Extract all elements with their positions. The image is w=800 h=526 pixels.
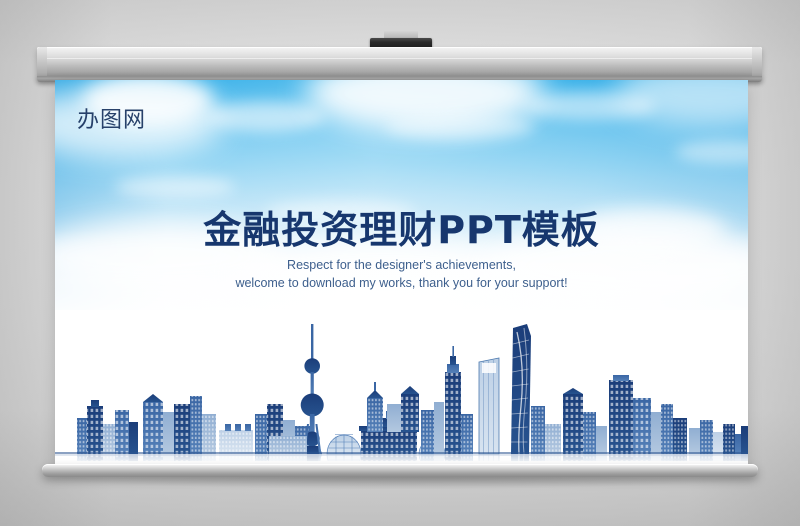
city-skyline-illustration (55, 306, 748, 466)
projector-screen-housing[interactable] (37, 47, 762, 79)
subtitle-line-2: welcome to download my works, thank you … (55, 274, 748, 292)
cloud (115, 176, 235, 198)
skyline-buildings (55, 324, 748, 454)
slide-title: 金融投资理财PPT模板 (55, 199, 748, 254)
slide-scene: 办图网 金融投资理财PPT模板 Respect for the designer… (0, 0, 800, 526)
cloud (205, 102, 325, 132)
screen-weight-bar-shadow (52, 477, 748, 489)
cloud (385, 114, 535, 140)
projection-screen-canvas[interactable]: 办图网 金融投资理财PPT模板 Respect for the designer… (55, 80, 748, 466)
subtitle-line-1: Respect for the designer's achievements, (55, 256, 748, 274)
site-watermark: 办图网 (77, 102, 146, 134)
screen-weight-bar[interactable] (42, 464, 758, 477)
slide-subtitle: Respect for the designer's achievements,… (55, 256, 748, 292)
